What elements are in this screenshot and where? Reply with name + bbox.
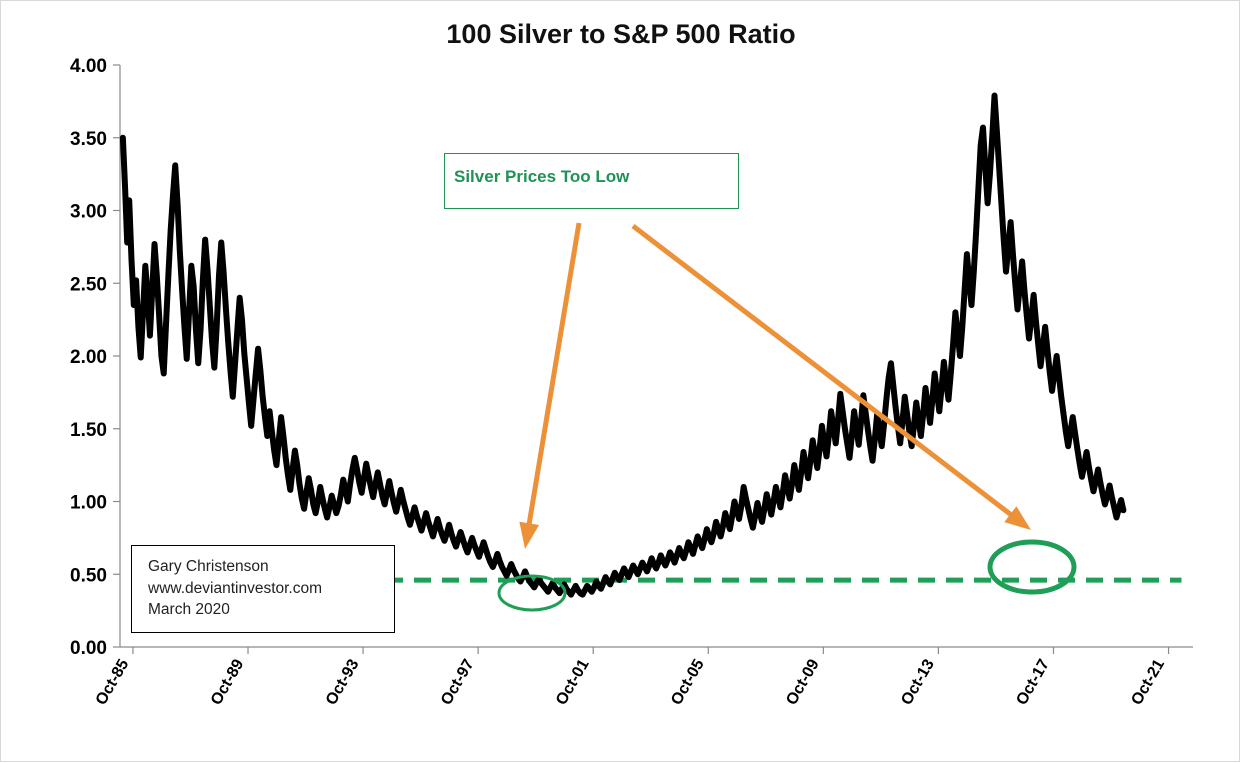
svg-text:4.00: 4.00 [70, 56, 107, 77]
svg-text:1.00: 1.00 [70, 493, 107, 514]
svg-text:0.00: 0.00 [70, 638, 107, 659]
svg-text:Oct-17: Oct-17 [1013, 656, 1053, 708]
svg-text:Oct-21: Oct-21 [1128, 656, 1168, 708]
attribution-date: March 2020 [148, 599, 394, 621]
chart-frame: 100 Silver to S&P 500 Ratio 0.000.501.00… [0, 0, 1240, 762]
callout-label: Silver Prices Too Low [454, 167, 629, 187]
svg-text:Oct-93: Oct-93 [323, 656, 363, 708]
highlight-ellipses [499, 542, 1074, 610]
svg-text:0.50: 0.50 [70, 565, 107, 586]
svg-text:Oct-01: Oct-01 [553, 656, 593, 708]
svg-text:3.50: 3.50 [70, 129, 107, 150]
svg-text:Oct-89: Oct-89 [208, 656, 248, 708]
attribution-box: Gary Christenson www.deviantinvestor.com… [131, 545, 395, 633]
y-axis-labels: 0.000.501.001.502.002.503.003.504.00 [70, 56, 107, 659]
x-axis-ticks [133, 647, 1169, 654]
attribution-website: www.deviantinvestor.com [148, 578, 394, 600]
x-axis-labels: Oct-85Oct-89Oct-93Oct-97Oct-01Oct-05Oct-… [93, 656, 1168, 708]
attribution-author: Gary Christenson [148, 556, 394, 578]
svg-text:Oct-85: Oct-85 [93, 656, 133, 708]
svg-text:Oct-13: Oct-13 [898, 656, 938, 708]
y-axis-ticks [113, 65, 120, 647]
svg-text:Oct-09: Oct-09 [783, 656, 823, 708]
svg-text:1.50: 1.50 [70, 420, 107, 441]
svg-text:Oct-05: Oct-05 [668, 656, 708, 708]
svg-text:2.50: 2.50 [70, 274, 107, 295]
callout-box: Silver Prices Too Low [444, 153, 739, 209]
svg-text:Oct-97: Oct-97 [438, 656, 478, 708]
chart-plot-area: 0.000.501.001.502.002.503.003.504.00 Oct… [1, 1, 1240, 763]
svg-text:3.00: 3.00 [70, 202, 107, 223]
svg-text:2.00: 2.00 [70, 347, 107, 368]
